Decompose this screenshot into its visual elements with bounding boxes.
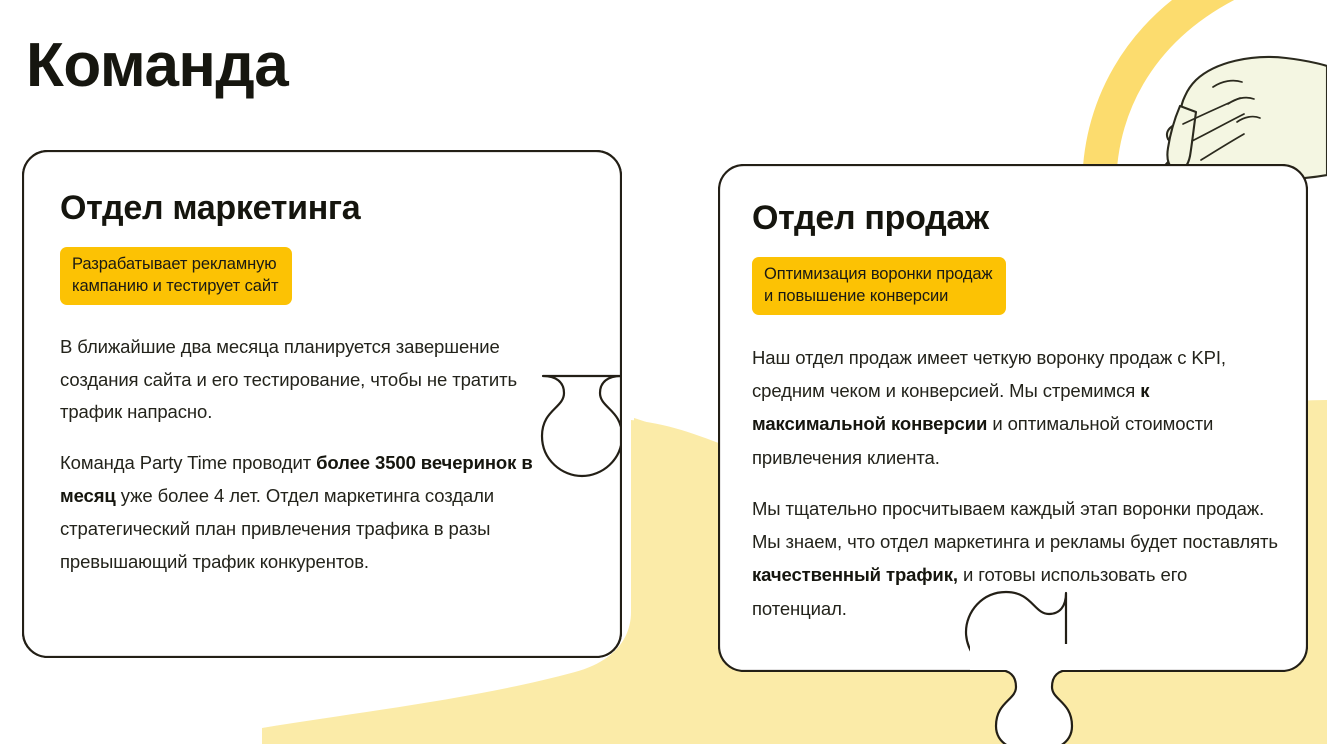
card-sales-badge-line1: Оптимизация воронки продаж — [764, 265, 992, 283]
page-title: Команда — [26, 33, 288, 98]
card-marketing-badge-line1: Разрабатывает рекламную — [72, 255, 277, 273]
card-sales[interactable]: Отдел продаж Оптимизация воронки продаж … — [718, 164, 1308, 672]
card-marketing-content: Отдел маркетинга Разрабатывает рекламную… — [22, 150, 622, 609]
card-sales-puzzle-knob — [970, 644, 1100, 744]
yellow-blob-stem-icon — [634, 418, 718, 672]
card-sales-content: Отдел продаж Оптимизация воронки продаж … — [718, 164, 1308, 655]
card-marketing-badge: Разрабатывает рекламную кампанию и тести… — [60, 247, 292, 304]
card-marketing-paragraph: В ближайшие два месяца планируется завер… — [60, 331, 582, 430]
card-sales-badge-line2: и повышение конверсии — [764, 287, 948, 305]
card-sales-paragraph: Мы тщательно просчитываем каждый этап во… — [752, 492, 1282, 625]
card-sales-badge: Оптимизация воронки продаж и повышение к… — [752, 257, 1006, 314]
card-marketing[interactable]: Отдел маркетинга Разрабатывает рекламную… — [22, 150, 622, 658]
card-marketing-paragraph: Команда Party Time проводит более 3500 в… — [60, 447, 582, 579]
card-marketing-heading: Отдел маркетинга — [60, 190, 582, 227]
card-sales-heading: Отдел продаж — [752, 200, 1282, 237]
card-sales-paragraph: Наш отдел продаж имеет четкую воронку пр… — [752, 341, 1282, 474]
card-marketing-badge-line2: кампанию и тестирует сайт — [72, 277, 278, 295]
